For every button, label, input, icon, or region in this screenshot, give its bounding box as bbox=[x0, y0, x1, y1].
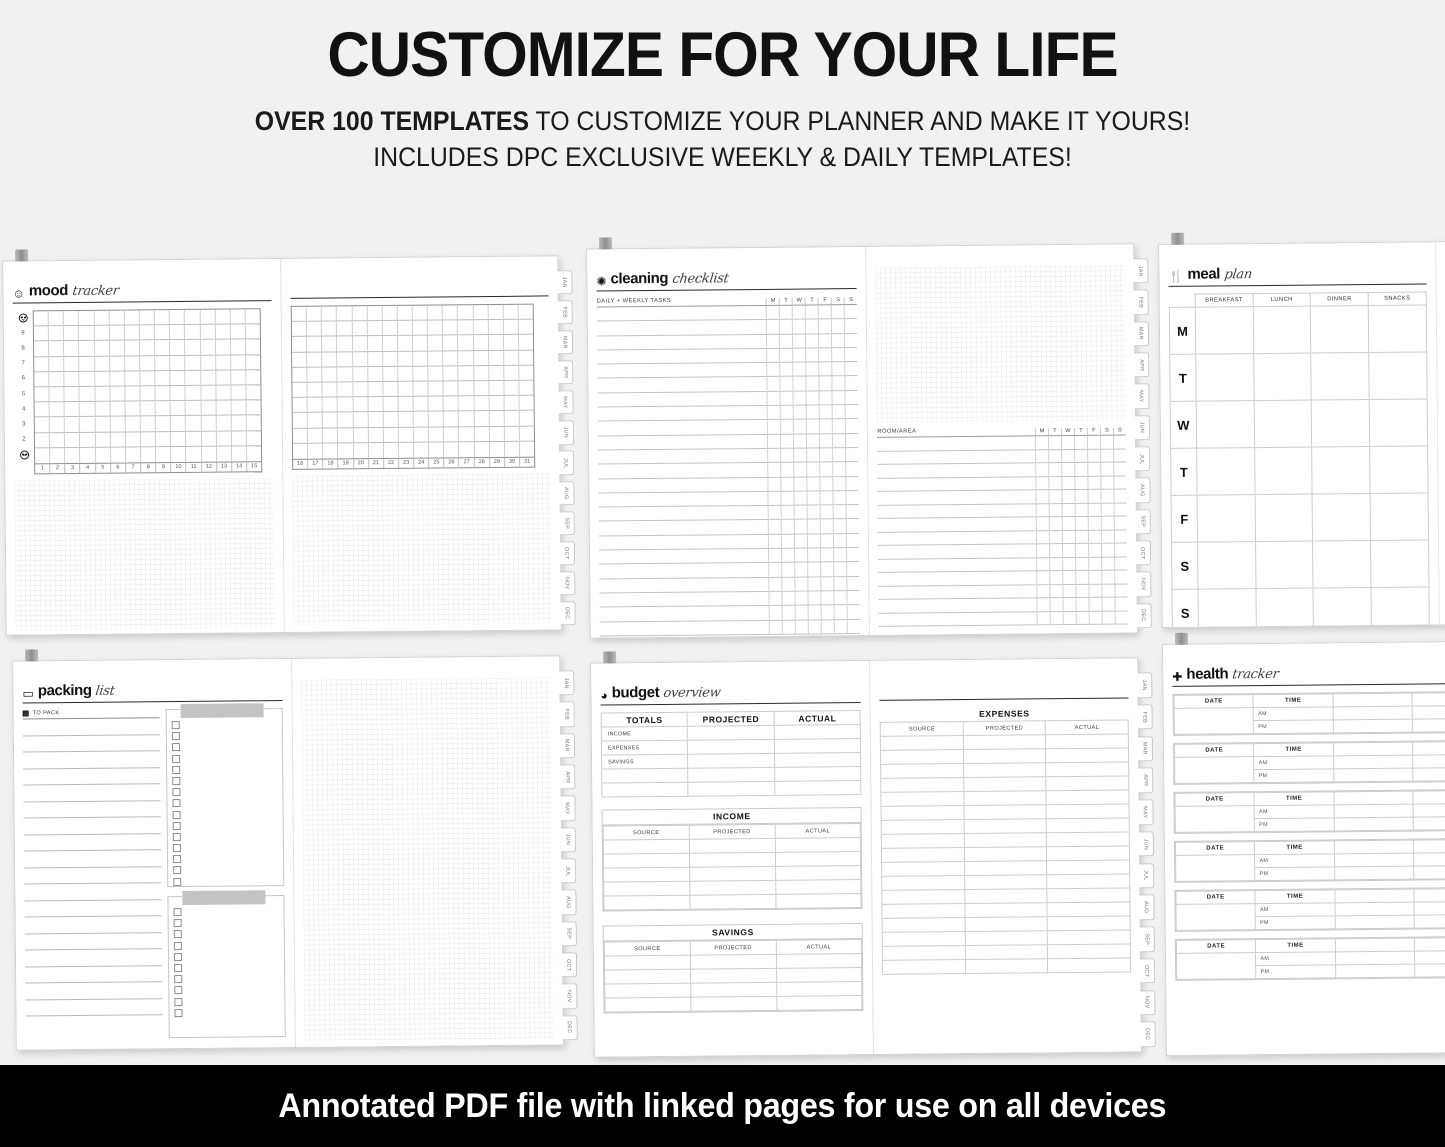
mood-cell[interactable] bbox=[110, 371, 125, 385]
mood-grid[interactable] bbox=[291, 304, 535, 460]
mood-cell[interactable] bbox=[231, 309, 246, 323]
meal-cell[interactable] bbox=[1198, 589, 1256, 627]
check-cell[interactable] bbox=[780, 377, 793, 390]
check-cell[interactable] bbox=[1075, 544, 1088, 557]
mood-cell[interactable] bbox=[110, 341, 125, 355]
check-cell[interactable] bbox=[821, 577, 834, 590]
budget-cell[interactable] bbox=[691, 996, 777, 1011]
mood-cell[interactable] bbox=[65, 372, 80, 386]
mood-cell[interactable] bbox=[156, 386, 171, 400]
mood-cell[interactable] bbox=[368, 428, 383, 442]
mood-cell[interactable] bbox=[323, 398, 338, 412]
mood-cell[interactable] bbox=[140, 371, 155, 385]
mood-cell[interactable] bbox=[231, 385, 246, 399]
month-tab-jul[interactable]: JUL bbox=[560, 858, 576, 883]
check-cell[interactable] bbox=[1035, 477, 1048, 490]
check-cell[interactable] bbox=[794, 520, 807, 533]
budget-cell[interactable] bbox=[1046, 804, 1129, 819]
mood-cell[interactable] bbox=[155, 325, 170, 339]
mood-cell[interactable] bbox=[34, 311, 49, 325]
budget-cell[interactable] bbox=[965, 931, 1048, 946]
check-cell[interactable] bbox=[1062, 557, 1075, 570]
check-cell[interactable] bbox=[834, 562, 847, 575]
mood-cell[interactable] bbox=[247, 416, 261, 430]
health-cell[interactable] bbox=[1413, 803, 1445, 817]
check-cell[interactable] bbox=[780, 406, 793, 419]
mood-cell[interactable] bbox=[94, 311, 109, 325]
budget-cell[interactable] bbox=[965, 917, 1048, 932]
check-cell[interactable] bbox=[1048, 477, 1061, 490]
health-cell[interactable] bbox=[1335, 902, 1415, 916]
mood-cell[interactable] bbox=[474, 442, 489, 457]
mood-cell[interactable] bbox=[519, 305, 533, 319]
budget-cell[interactable] bbox=[690, 954, 776, 969]
month-tab-feb[interactable]: FEB bbox=[1137, 704, 1153, 730]
check-cells[interactable] bbox=[766, 305, 857, 319]
check-cell[interactable] bbox=[833, 548, 846, 561]
mood-cell[interactable] bbox=[444, 412, 459, 426]
check-cells[interactable] bbox=[767, 348, 858, 362]
check-cells[interactable] bbox=[767, 391, 858, 405]
mood-cell[interactable] bbox=[413, 382, 428, 396]
check-cell[interactable] bbox=[1113, 449, 1126, 462]
check-cell[interactable] bbox=[794, 506, 807, 519]
mood-cell[interactable] bbox=[398, 336, 413, 350]
check-cell[interactable] bbox=[818, 334, 831, 347]
month-tab-feb[interactable]: FEB bbox=[557, 300, 573, 324]
check-cells[interactable] bbox=[769, 562, 860, 576]
check-cell[interactable] bbox=[782, 592, 795, 605]
health-ampm-label[interactable]: AM bbox=[1255, 903, 1335, 917]
budget-cell[interactable] bbox=[882, 834, 965, 849]
health-cell[interactable] bbox=[1335, 964, 1415, 978]
check-cell[interactable] bbox=[1114, 543, 1127, 556]
check-cells[interactable] bbox=[767, 434, 858, 448]
mood-cell[interactable] bbox=[201, 386, 216, 400]
mood-cell[interactable] bbox=[231, 325, 246, 339]
check-cell[interactable] bbox=[1100, 449, 1113, 462]
packing-checkbox[interactable] bbox=[173, 822, 181, 830]
mood-cell[interactable] bbox=[308, 428, 323, 442]
check-cell[interactable] bbox=[1076, 611, 1089, 624]
mood-cell[interactable] bbox=[186, 401, 201, 415]
packing-lines[interactable] bbox=[23, 718, 163, 1016]
packing-checkbox[interactable] bbox=[174, 975, 182, 983]
mood-cell[interactable] bbox=[80, 447, 95, 462]
meal-cell[interactable] bbox=[1313, 587, 1371, 627]
health-ampm-label[interactable]: PM bbox=[1256, 965, 1336, 979]
check-cells[interactable] bbox=[769, 605, 860, 619]
mood-cell[interactable] bbox=[201, 355, 216, 369]
mood-cell[interactable] bbox=[202, 446, 217, 461]
check-cell[interactable] bbox=[806, 348, 819, 361]
check-cell[interactable] bbox=[780, 363, 793, 376]
check-cell[interactable] bbox=[768, 535, 781, 548]
mood-cell[interactable] bbox=[232, 416, 247, 430]
meal-cell[interactable] bbox=[1253, 306, 1311, 354]
check-cell[interactable] bbox=[844, 334, 857, 347]
mood-cell[interactable] bbox=[352, 337, 367, 351]
check-cell[interactable] bbox=[806, 391, 819, 404]
check-cell[interactable] bbox=[1062, 503, 1075, 516]
packing-checkbox[interactable] bbox=[174, 908, 182, 916]
check-cell[interactable] bbox=[833, 534, 846, 547]
check-cell[interactable] bbox=[1114, 557, 1127, 570]
meal-cell[interactable] bbox=[1256, 588, 1314, 627]
meal-day-row[interactable]: W bbox=[1170, 399, 1427, 448]
check-cell[interactable] bbox=[794, 491, 807, 504]
meal-cell[interactable] bbox=[1369, 399, 1427, 447]
check-cell[interactable] bbox=[1075, 557, 1088, 570]
health-ampm-label[interactable]: PM bbox=[1254, 720, 1334, 734]
packing-line[interactable] bbox=[23, 784, 160, 802]
check-cells[interactable] bbox=[1035, 489, 1126, 502]
check-cell[interactable] bbox=[1050, 612, 1063, 625]
month-tab-apr[interactable]: APR bbox=[1137, 768, 1153, 794]
budget-cell[interactable] bbox=[1047, 902, 1130, 917]
check-cell[interactable] bbox=[779, 306, 792, 319]
mood-cell[interactable] bbox=[444, 396, 459, 410]
check-cell[interactable] bbox=[819, 405, 832, 418]
meal-day-row[interactable]: T bbox=[1171, 446, 1428, 495]
check-cell[interactable] bbox=[1088, 584, 1101, 597]
task-name-field[interactable] bbox=[598, 392, 768, 407]
task-name-field[interactable] bbox=[597, 335, 767, 350]
mood-cell[interactable] bbox=[125, 326, 140, 340]
check-cell[interactable] bbox=[833, 491, 846, 504]
check-cell[interactable] bbox=[844, 305, 857, 318]
packing-checkbox[interactable] bbox=[172, 766, 180, 774]
budget-totals-table[interactable]: TOTALSPROJECTEDACTUALINCOMEEXPENSESSAVIN… bbox=[601, 710, 862, 797]
mood-cell[interactable] bbox=[34, 387, 49, 401]
check-cell[interactable] bbox=[807, 548, 820, 561]
task-name-field[interactable] bbox=[878, 450, 1036, 464]
check-cell[interactable] bbox=[807, 506, 820, 519]
mood-cell[interactable] bbox=[307, 322, 322, 336]
month-tab-may[interactable]: MAY bbox=[559, 796, 575, 821]
check-cell[interactable] bbox=[1075, 503, 1088, 516]
budget-cell[interactable] bbox=[964, 791, 1047, 806]
check-cell[interactable] bbox=[1113, 476, 1126, 489]
check-cell[interactable] bbox=[1048, 436, 1061, 449]
mood-cell[interactable] bbox=[474, 411, 489, 425]
mood-cell[interactable] bbox=[80, 432, 95, 446]
mood-cell[interactable] bbox=[292, 337, 307, 351]
check-cell[interactable] bbox=[819, 348, 832, 361]
budget-cell[interactable] bbox=[690, 968, 776, 983]
check-cells[interactable] bbox=[769, 591, 860, 605]
packing-checkbox[interactable] bbox=[174, 998, 182, 1006]
budget-cell[interactable] bbox=[882, 876, 965, 891]
check-cell[interactable] bbox=[834, 605, 847, 618]
check-cell[interactable] bbox=[1050, 598, 1063, 611]
check-cell[interactable] bbox=[780, 434, 793, 447]
mood-cell[interactable] bbox=[155, 371, 170, 385]
mood-cell[interactable] bbox=[95, 356, 110, 370]
mood-cell[interactable] bbox=[503, 305, 518, 319]
mood-cell[interactable] bbox=[323, 443, 338, 458]
budget-cell[interactable] bbox=[1047, 818, 1130, 833]
budget-row-label[interactable]: EXPENSES bbox=[601, 740, 688, 755]
meal-plan-table[interactable]: BREAKFASTLUNCHDINNERSNACKSMTWTFSS bbox=[1169, 291, 1430, 627]
mood-cell[interactable] bbox=[186, 416, 201, 430]
mood-cell[interactable] bbox=[322, 306, 337, 320]
health-ampm-label[interactable]: PM bbox=[1254, 769, 1334, 783]
mood-cell[interactable] bbox=[444, 381, 459, 395]
check-cell[interactable] bbox=[769, 563, 782, 576]
check-cell[interactable] bbox=[1075, 571, 1088, 584]
budget-cell[interactable] bbox=[775, 866, 861, 881]
check-cell[interactable] bbox=[847, 591, 860, 604]
check-cell[interactable] bbox=[781, 506, 794, 519]
check-cell[interactable] bbox=[781, 477, 794, 490]
check-cell[interactable] bbox=[1074, 449, 1087, 462]
mood-cell[interactable] bbox=[170, 340, 185, 354]
budget-expenses-section[interactable]: EXPENSES SOURCEPROJECTEDACTUAL bbox=[880, 705, 1131, 974]
check-cell[interactable] bbox=[818, 320, 831, 333]
spread-packing-list[interactable]: ★ ▤ ▥ ▦ ▩ ▤ ⌂ ❙❙ ◉ ▬ ◈ ♥ ↔ ▥ JAN FEB MAR… bbox=[12, 655, 564, 1050]
check-cell[interactable] bbox=[779, 334, 792, 347]
packing-checkbox[interactable] bbox=[173, 833, 181, 841]
mood-cell[interactable] bbox=[231, 400, 246, 414]
mood-cell[interactable] bbox=[246, 355, 260, 369]
health-cell[interactable] bbox=[1412, 718, 1445, 732]
health-cell[interactable] bbox=[1333, 755, 1413, 769]
budget-cell[interactable] bbox=[689, 838, 775, 853]
check-cell[interactable] bbox=[847, 605, 860, 618]
budget-cell[interactable] bbox=[688, 781, 775, 796]
health-cell[interactable] bbox=[1334, 768, 1414, 782]
check-cell[interactable] bbox=[781, 449, 794, 462]
check-cell[interactable] bbox=[831, 334, 844, 347]
mood-cell[interactable] bbox=[474, 396, 489, 410]
budget-cell[interactable] bbox=[774, 725, 861, 740]
checkbox-column[interactable] bbox=[172, 720, 279, 886]
meal-cell[interactable] bbox=[1254, 447, 1312, 495]
mood-cell[interactable] bbox=[292, 368, 307, 382]
mood-cell[interactable] bbox=[413, 351, 428, 365]
check-cell[interactable] bbox=[1035, 463, 1048, 476]
mood-cell[interactable] bbox=[338, 443, 353, 458]
mood-cell[interactable] bbox=[443, 320, 458, 334]
mood-cell[interactable] bbox=[111, 447, 126, 462]
budget-cell[interactable] bbox=[964, 763, 1047, 778]
month-tab-mar[interactable]: MAR bbox=[557, 330, 573, 354]
mood-cell[interactable] bbox=[459, 396, 474, 410]
health-ampm-label[interactable]: AM bbox=[1255, 854, 1335, 868]
mood-cell[interactable] bbox=[110, 417, 125, 431]
mood-cell[interactable] bbox=[413, 321, 428, 335]
check-cell[interactable] bbox=[1062, 530, 1075, 543]
health-cell[interactable] bbox=[1413, 754, 1445, 768]
month-tab-jun[interactable]: JUN bbox=[1134, 415, 1150, 440]
task-name-field[interactable] bbox=[878, 517, 1036, 531]
budget-expenses-table[interactable]: SOURCEPROJECTEDACTUAL bbox=[880, 719, 1131, 974]
health-date-cell[interactable] bbox=[1174, 708, 1254, 735]
check-cell[interactable] bbox=[808, 620, 821, 633]
budget-cell[interactable] bbox=[774, 753, 861, 768]
meal-cell[interactable] bbox=[1371, 540, 1429, 588]
check-cell[interactable] bbox=[846, 519, 859, 532]
task-name-field[interactable] bbox=[878, 544, 1036, 558]
packing-line[interactable] bbox=[24, 834, 161, 852]
mood-cell[interactable] bbox=[65, 387, 80, 401]
checkbox-column[interactable] bbox=[174, 907, 280, 1017]
mood-cell[interactable] bbox=[490, 442, 505, 457]
mood-cell[interactable] bbox=[216, 401, 231, 415]
mood-cell[interactable] bbox=[428, 366, 443, 380]
mood-cell[interactable] bbox=[50, 448, 65, 463]
check-cell[interactable] bbox=[767, 406, 780, 419]
mood-cell[interactable] bbox=[323, 413, 338, 427]
month-tab-jan[interactable]: JAN bbox=[1136, 672, 1152, 698]
packing-checkbox[interactable] bbox=[172, 755, 180, 763]
check-cell[interactable] bbox=[1049, 544, 1062, 557]
task-name-field[interactable] bbox=[600, 606, 770, 621]
month-tab-jan[interactable]: JAN bbox=[556, 270, 572, 294]
check-cell[interactable] bbox=[821, 606, 834, 619]
check-cell[interactable] bbox=[794, 449, 807, 462]
task-name-field[interactable] bbox=[597, 377, 767, 392]
mood-cell[interactable] bbox=[216, 416, 231, 430]
check-cell[interactable] bbox=[845, 434, 858, 447]
check-cell[interactable] bbox=[1049, 504, 1062, 517]
mood-cell[interactable] bbox=[383, 382, 398, 396]
budget-row[interactable] bbox=[604, 894, 862, 910]
mood-cell[interactable] bbox=[140, 386, 155, 400]
budget-cell[interactable] bbox=[882, 862, 965, 877]
check-cell[interactable] bbox=[1089, 598, 1102, 611]
mood-cell[interactable] bbox=[520, 426, 534, 440]
mood-cell[interactable] bbox=[171, 386, 186, 400]
mood-cell[interactable] bbox=[504, 365, 519, 379]
budget-cell[interactable] bbox=[605, 969, 691, 984]
check-cell[interactable] bbox=[769, 620, 782, 633]
check-cell[interactable] bbox=[832, 420, 845, 433]
month-tab-aug[interactable]: AUG bbox=[1138, 895, 1154, 921]
check-cell[interactable] bbox=[793, 434, 806, 447]
check-cell[interactable] bbox=[792, 306, 805, 319]
month-tab-jan[interactable]: JAN bbox=[1132, 258, 1148, 283]
budget-cell[interactable] bbox=[1046, 734, 1129, 749]
mood-cell[interactable] bbox=[171, 447, 186, 462]
category-title-bar[interactable] bbox=[182, 890, 265, 905]
mood-cell[interactable] bbox=[247, 431, 261, 445]
task-name-field[interactable] bbox=[599, 506, 769, 521]
check-cell[interactable] bbox=[766, 334, 779, 347]
mood-cell[interactable] bbox=[95, 432, 110, 446]
task-name-field[interactable] bbox=[599, 549, 769, 564]
month-tab-apr[interactable]: APR bbox=[559, 764, 575, 789]
check-cell[interactable] bbox=[821, 620, 834, 633]
check-cell[interactable] bbox=[832, 377, 845, 390]
mood-cell[interactable] bbox=[444, 427, 459, 441]
mood-cell[interactable] bbox=[353, 443, 368, 458]
mood-grid-row[interactable] bbox=[293, 441, 534, 459]
check-cell[interactable] bbox=[806, 434, 819, 447]
mood-cell[interactable] bbox=[246, 340, 260, 354]
budget-cell[interactable] bbox=[963, 735, 1046, 750]
month-tab-aug[interactable]: AUG bbox=[560, 890, 576, 915]
task-name-field[interactable] bbox=[598, 420, 768, 435]
budget-cell[interactable] bbox=[688, 725, 775, 740]
check-cell[interactable] bbox=[846, 505, 859, 518]
mood-cell[interactable] bbox=[443, 305, 458, 319]
check-cell[interactable] bbox=[818, 305, 831, 318]
mood-cell[interactable] bbox=[414, 442, 429, 457]
mood-cell[interactable] bbox=[50, 387, 65, 401]
mood-cell[interactable] bbox=[171, 401, 186, 415]
mood-cell[interactable] bbox=[519, 396, 533, 410]
check-cell[interactable] bbox=[1087, 476, 1100, 489]
check-cell[interactable] bbox=[832, 434, 845, 447]
mood-cell[interactable] bbox=[443, 351, 458, 365]
budget-cell[interactable] bbox=[882, 820, 965, 835]
mood-cell[interactable] bbox=[384, 443, 399, 458]
check-cell[interactable] bbox=[1062, 517, 1075, 530]
check-cell[interactable] bbox=[845, 348, 858, 361]
meal-cell[interactable] bbox=[1255, 541, 1313, 589]
budget-cell[interactable] bbox=[881, 792, 964, 807]
task-name-field[interactable] bbox=[878, 463, 1036, 477]
budget-cell[interactable] bbox=[690, 880, 776, 895]
mood-cell[interactable] bbox=[186, 431, 201, 445]
budget-cell[interactable] bbox=[1048, 944, 1131, 959]
mood-cell[interactable] bbox=[186, 371, 201, 385]
mood-cell[interactable] bbox=[201, 416, 216, 430]
packing-line[interactable] bbox=[25, 933, 162, 951]
mood-cell[interactable] bbox=[322, 337, 337, 351]
meal-cell[interactable] bbox=[1313, 540, 1371, 588]
check-cells[interactable] bbox=[768, 519, 859, 533]
mood-cell[interactable] bbox=[64, 357, 79, 371]
mood-cell[interactable] bbox=[79, 326, 94, 340]
month-tab-jul[interactable]: JUL bbox=[1138, 863, 1154, 889]
meal-cell[interactable] bbox=[1253, 353, 1311, 401]
check-cells[interactable] bbox=[768, 534, 859, 548]
mood-cell[interactable] bbox=[488, 320, 503, 334]
check-cell[interactable] bbox=[1101, 517, 1114, 530]
mood-cell[interactable] bbox=[217, 431, 232, 445]
mood-cell[interactable] bbox=[185, 310, 200, 324]
month-tab-sep[interactable]: SEP bbox=[561, 921, 577, 946]
packing-checkbox[interactable] bbox=[172, 777, 180, 785]
mood-cell[interactable] bbox=[292, 383, 307, 397]
mood-cell[interactable] bbox=[125, 341, 140, 355]
check-cell[interactable] bbox=[1113, 489, 1126, 502]
check-cells[interactable] bbox=[767, 362, 858, 376]
budget-savings-table[interactable]: SOURCEPROJECTEDACTUAL bbox=[604, 939, 863, 1012]
mood-cell[interactable] bbox=[95, 387, 110, 401]
mood-cell[interactable] bbox=[65, 448, 80, 463]
check-cell[interactable] bbox=[846, 534, 859, 547]
month-tab-feb[interactable]: FEB bbox=[559, 702, 575, 727]
budget-cell[interactable] bbox=[965, 889, 1048, 904]
check-cell[interactable] bbox=[766, 306, 779, 319]
task-name-field[interactable] bbox=[879, 558, 1037, 572]
check-cell[interactable] bbox=[820, 534, 833, 547]
task-name-field[interactable] bbox=[878, 531, 1036, 545]
check-cells[interactable] bbox=[766, 334, 857, 348]
check-cell[interactable] bbox=[1049, 517, 1062, 530]
mood-cell[interactable] bbox=[231, 370, 246, 384]
month-tab-dec[interactable]: DEC bbox=[1140, 1022, 1156, 1048]
month-tab-nov[interactable]: NOV bbox=[559, 571, 575, 595]
check-cell[interactable] bbox=[1049, 571, 1062, 584]
mood-cell[interactable] bbox=[140, 341, 155, 355]
mood-cell[interactable] bbox=[489, 350, 504, 364]
health-cell[interactable] bbox=[1415, 963, 1445, 977]
